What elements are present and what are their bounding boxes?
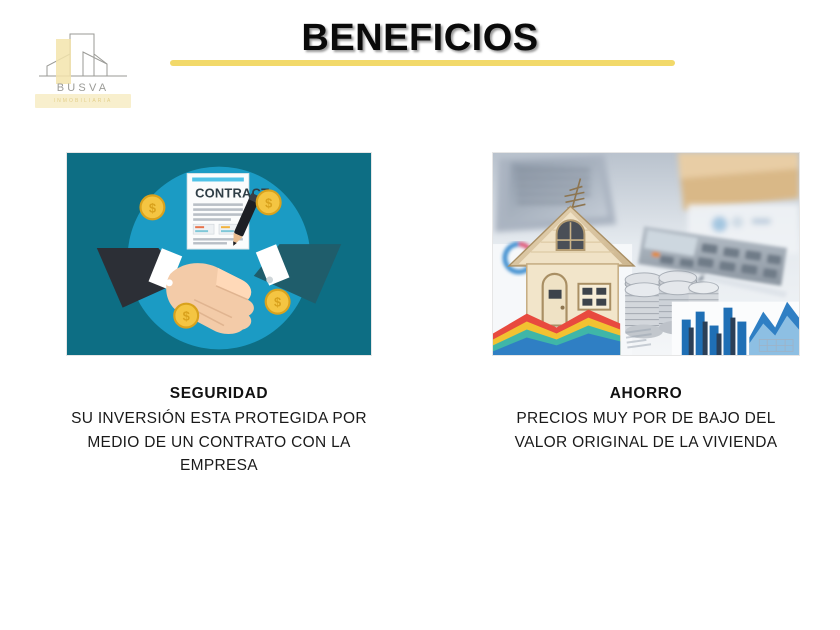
svg-text:$: $ [265,195,272,210]
page-title: BENEFICIOS [0,17,840,60]
caption-title: AHORRO [492,385,800,403]
caption-title: SEGURIDAD [66,385,372,403]
svg-text:$: $ [274,295,281,310]
benefit-card-seguridad: CONTRACT [66,152,372,478]
caption-seguridad: SEGURIDAD SU INVERSIÓN ESTA PROTEGIDA PO… [66,385,372,478]
caption-body: PRECIOS MUY POR DE BAJO DEL VALOR ORIGIN… [492,407,800,454]
benefit-card-ahorro: AHORRO PRECIOS MUY POR DE BAJO DEL VALOR… [492,152,800,454]
logo-wordmark: BUSVA [27,82,139,94]
svg-text:$: $ [183,309,190,324]
caption-body: SU INVERSIÓN ESTA PROTEGIDA POR MEDIO DE… [66,407,372,478]
bar-chart-paper [672,302,799,355]
handshake-contract-illustration: CONTRACT [66,152,372,356]
title-underline-rule [170,60,675,66]
caption-ahorro: AHORRO PRECIOS MUY POR DE BAJO DEL VALOR… [492,385,800,454]
house-coins-calculator-photo [492,152,800,356]
logo-subtext: INMOBILIARIA [27,98,139,104]
svg-text:$: $ [149,200,156,215]
